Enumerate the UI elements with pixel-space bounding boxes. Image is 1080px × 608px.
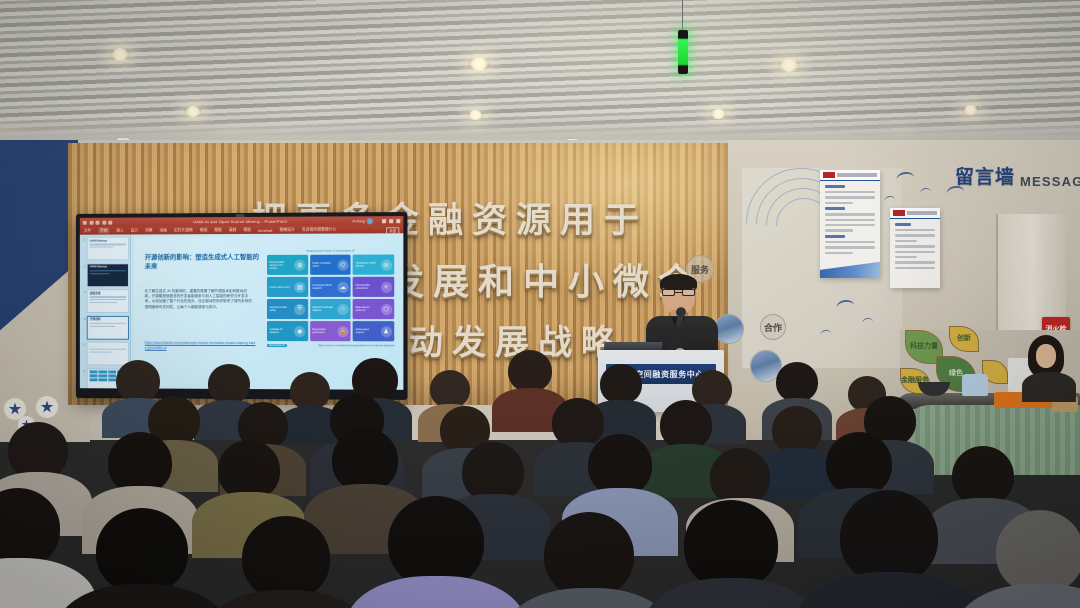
tab-review[interactable]: 审阅 [200,227,208,233]
account-name: Ai dong [352,219,364,223]
ceiling-light [962,105,979,115]
audience-member [952,446,1014,506]
poster-body [820,181,880,261]
thumbnail-title: HAMi Meetup [88,264,128,269]
audience-member [600,364,642,404]
graphic-card-text: Interoperable ecosystems [355,284,376,290]
poster-logo [823,172,835,178]
thumbnail-row[interactable]: 2 HAMi Meetup [81,263,128,287]
tab-design-ideas[interactable]: 图格设计 [280,227,295,233]
graphic-card-icon: ☁ [337,281,348,292]
tab-animations[interactable]: 动画 [159,227,167,233]
ceiling-light [778,58,800,72]
poster-header [890,208,940,219]
graphic-card: Community driven research ☁ [310,277,351,297]
exit-sign-wire [682,0,683,32]
graphic-card: Interoperable ecosystems ⚛ [353,277,394,297]
graphic-card-text: Democratized access to AI models [270,260,291,269]
audience-member [388,496,484,588]
graphic-card-icon: ⛨ [294,303,305,314]
slide-body-text: 在了解生成式 AI 的影响时，重要的是要了解开源技术如何推动创新。开源模型使更多… [145,289,254,310]
tab-acrobat[interactable]: Acrobat [258,227,273,232]
graphic-card: Democratized access to AI models ◍ [267,255,308,275]
audience-member [430,370,470,408]
thumbnail-number: 1 [81,237,85,242]
tab-help[interactable]: 帮助 [243,227,251,233]
audience-member [462,442,524,502]
thumbnail-number: 2 [81,263,85,268]
tab-file[interactable]: 文件 [84,228,91,234]
tell-me-search[interactable]: 告诉我你想要做什么 [302,227,336,233]
audience-member [544,512,634,598]
ceiling [0,0,1080,152]
graphic-card-text: Transparent model training [355,262,376,268]
graphic-card-text: Shared benchmark datasets [312,306,333,312]
audience-member [242,516,330,600]
speaker-glasses-icon [662,289,695,296]
poster-header-text [907,211,937,215]
poster-header-text [837,173,877,177]
audience-member [710,448,770,506]
tab-transitions[interactable]: 切换 [145,227,152,233]
slide-thumbnail[interactable]: 议程安排 [87,289,129,313]
audience-member [776,362,818,402]
audience-member [508,350,552,392]
graphic-card: Improved model safety ⛨ [267,299,308,319]
poster-logo [893,210,905,216]
graphic-card-text: Lower cost of entry [270,285,291,288]
audience-member [772,406,822,454]
account-chip[interactable]: Ai dong [352,218,372,224]
thumbnail-title: HAMi Meetup [88,237,128,242]
thumbnail-number: 3 [81,289,85,294]
graphic-caption: Shaping the Future of Generative AI [267,248,394,252]
audience-member [840,490,938,584]
graphic-card: Edge and on-device AI ⬡ [353,299,394,319]
thumbnail-title: 议程安排 [88,290,128,295]
wall-poster [890,208,940,288]
graphic-card-icon: ◎ [380,259,391,270]
audience-member [826,432,892,496]
graphic-card: Transparent model training ◎ [353,255,394,275]
audience-member [332,428,398,492]
audience-member [0,488,60,568]
thumbnail-row[interactable]: 3 议程安排 [81,289,128,313]
graphic-card-icon: ⌬ [337,259,348,270]
graphic-card-icon: ⚛ [380,281,391,292]
poster-footer [820,260,880,278]
graphic-card-text: Edge and on-device AI [355,306,376,312]
wall-poster [820,170,880,278]
close-icon[interactable] [396,219,400,223]
graphic-card-text: Faster innovation cycles [312,262,333,268]
graphic-card: Lower cost of entry ▤ [267,277,308,297]
thumbnail-row[interactable]: 1 HAMi Meetup [81,236,128,260]
audience-member [684,500,778,590]
minimize-icon[interactable] [382,219,386,223]
tab-design[interactable]: 设计 [131,227,138,233]
audience-member [8,422,68,480]
poster-body [890,219,940,276]
audience-member [218,440,280,500]
graphic-card-text: Improved model safety [270,306,291,312]
window-controls[interactable] [382,219,400,223]
ceiling-light [468,57,490,71]
tab-insert[interactable]: 插入 [116,228,123,234]
graphic-card-icon: ◍ [294,259,305,270]
powerpoint-titlebar: HAMi AI and Open Source Meetup - PowerPo… [80,216,404,227]
graphic-card-icon: ⬡ [380,303,391,314]
ceiling-light [184,106,202,117]
exit-sign-icon [678,30,688,74]
thumbnail-number: 4 [81,315,85,320]
graphic-card-text: Community driven research [312,284,333,290]
audience-member [96,508,188,594]
graphic-card-grid: Democratized access to AI models ◍ Faste… [267,255,394,342]
audience-member [588,434,652,496]
tab-home[interactable]: 开始 [98,228,109,234]
speaker-hair-front [660,275,697,290]
message-wall-label-cn: 留言墙 [955,162,1015,189]
poster-header [820,170,880,181]
slide-thumbnail[interactable]: HAMi Meetup [87,236,129,260]
ceiling-light [110,48,130,61]
conference-room-photo: 把更多金融资源用于 绿色发展和中小微企 驱动发展战略 服务 合作 [0,0,1080,608]
message-wall-sign: 留言墙 MESSAGE WALL [955,162,1080,189]
tab-view[interactable]: 视图 [214,227,222,233]
audience-member [208,364,250,404]
graphic-card-icon: ⌂ [337,303,348,314]
audience-member [660,400,712,450]
audience-member [108,432,172,494]
tab-record[interactable]: 录制 [229,227,237,233]
maximize-icon[interactable] [389,219,393,223]
graphic-card: Faster innovation cycles ⌬ [310,255,351,275]
avatar[interactable] [367,218,373,224]
graphic-card: Shared benchmark datasets ⌂ [310,299,351,319]
slide-thumbnail[interactable]: HAMi Meetup [87,263,129,287]
tab-slideshow[interactable]: 幻灯片放映 [174,227,193,233]
audience [0,330,1080,608]
thumbnail-title: 开源创新 [88,316,128,321]
slide-title: 开源创新的影响：塑造生成式人工智能的未来 [145,253,264,272]
audience-member [996,510,1080,594]
message-wall-label-en: MESSAGE WALL [1020,174,1080,189]
audience-member [290,372,330,410]
graphic-card-icon: ▤ [294,281,305,292]
badge-service-label: 服务 [691,263,709,276]
